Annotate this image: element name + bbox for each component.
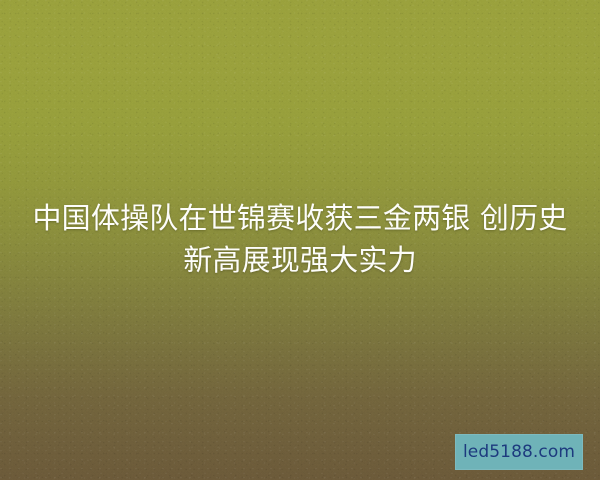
site-watermark-badge[interactable]: led5188.com [455, 434, 583, 470]
site-watermark-label: led5188.com [463, 444, 575, 461]
title-card: 中国体操队在世锦赛收获三金两银 创历史新高展现强大实力 led5188.com [0, 0, 600, 480]
headline-text: 中国体操队在世锦赛收获三金两银 创历史新高展现强大实力 [28, 197, 572, 281]
headline-block: 中国体操队在世锦赛收获三金两银 创历史新高展现强大实力 [28, 197, 572, 281]
